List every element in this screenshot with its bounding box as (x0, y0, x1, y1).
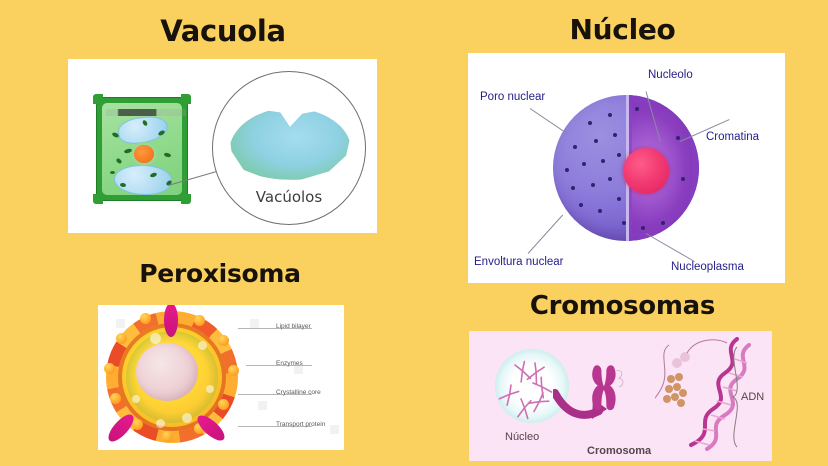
bilayer-bead-icon (228, 365, 239, 376)
bilayer-bead-icon (110, 393, 121, 404)
label-envoltura-nuclear: Envoltura nuclear (474, 256, 564, 268)
nuclear-pore-icon (676, 136, 680, 140)
plant-cell-illustration (96, 97, 188, 201)
enzyme-vesicle-icon (182, 413, 192, 423)
nuclear-pore-icon (622, 221, 626, 225)
nuclear-pore-icon (601, 159, 605, 163)
nuclear-pore-icon (591, 183, 595, 187)
figure-panel-cromosomas: Núcleo Cromosoma ADN (469, 331, 772, 461)
label-cromatina: Cromatina (706, 131, 759, 143)
chloroplast-icon (115, 158, 122, 165)
peroxisome-illustration (106, 311, 238, 443)
bilayer-bead-icon (162, 431, 173, 442)
label-adn: ADN (741, 391, 764, 403)
label-lipid-bilayer: Lipid bilayer (276, 323, 311, 330)
nuclear-pore-icon (565, 168, 569, 172)
chloroplast-icon (164, 152, 172, 158)
bilayer-bead-icon (140, 313, 151, 324)
bilayer-bead-icon (218, 335, 229, 346)
enzyme-vesicle-icon (150, 333, 161, 344)
nuclear-pore-icon (588, 121, 592, 125)
slide-canvas: Vacuola (0, 0, 828, 466)
nuclear-pore-icon (608, 113, 612, 117)
label-nucleo: Núcleo (505, 431, 539, 443)
bilayer-bead-icon (116, 333, 127, 344)
figure-panel-nucleo: Poro nuclear Nucleolo Cromatina Envoltur… (468, 53, 785, 283)
nuclear-pore-icon (579, 203, 583, 207)
nuclear-pore-icon (613, 133, 617, 137)
cell-corner-icon (93, 194, 103, 204)
enzyme-vesicle-icon (156, 419, 165, 428)
chromosome-icon (589, 355, 625, 425)
nuclear-pore-icon (571, 186, 575, 190)
vacuole-shape (114, 165, 172, 195)
cell-corner-icon (181, 194, 191, 204)
section-title-peroxisoma: Peroxisoma (70, 261, 370, 286)
chloroplast-icon (124, 148, 133, 154)
watermark-mark (250, 319, 259, 328)
bilayer-bead-icon (104, 363, 115, 374)
nuclear-pore-icon (617, 197, 621, 201)
section-title-cromosomas: Cromosomas (460, 293, 785, 319)
cell-corner-icon (181, 94, 191, 104)
cytoplasm-caption-strip (106, 109, 186, 116)
cytoplasm-region (102, 103, 182, 195)
label-cromosoma: Cromosoma (587, 445, 651, 457)
enzyme-vesicle-icon (132, 395, 140, 403)
chloroplast-icon (110, 171, 115, 174)
nucleolus-shape (623, 148, 669, 194)
nuclear-pore-icon (635, 107, 639, 111)
section-title-nucleo: Núcleo (460, 16, 785, 44)
label-nucleoplasma: Nucleoplasma (671, 261, 744, 273)
cell-nucleus-icon (134, 145, 154, 163)
figure-panel-peroxisoma: Lipid bilayer Enzymes Crystalline core T… (98, 305, 344, 450)
nuclear-pore-icon (573, 145, 577, 149)
leader-line (530, 108, 569, 135)
nuclear-pore-icon (617, 153, 621, 157)
crystalline-core-shape (136, 343, 198, 401)
bilayer-bead-icon (194, 315, 205, 326)
enzyme-vesicle-icon (206, 385, 214, 393)
label-nucleolo: Nucleolo (648, 69, 693, 81)
nuclear-pore-icon (594, 139, 598, 143)
watermark-mark (116, 319, 125, 328)
magnifier-circle: Vacúolos (212, 71, 366, 225)
enzyme-vesicle-icon (198, 341, 207, 350)
label-transport-protein: Transport protein (276, 421, 325, 428)
vacuolos-label: Vacúolos (213, 188, 365, 206)
nuclear-pore-icon (608, 177, 612, 181)
nuclear-pore-icon (582, 162, 586, 166)
watermark-mark (258, 401, 267, 410)
vacuole-closeup-shape (229, 108, 351, 180)
section-title-vacuola: Vacuola (0, 17, 446, 46)
leader-line (528, 215, 564, 254)
bilayer-bead-icon (218, 399, 229, 410)
label-poro-nuclear: Poro nuclear (480, 91, 545, 103)
figure-panel-vacuola: Vacúolos (68, 59, 377, 233)
bilayer-bead-icon (132, 419, 143, 430)
nuclear-pore-icon (661, 221, 665, 225)
label-crystalline-core: Crystalline core (276, 389, 321, 396)
label-enzymes: Enzymes (276, 360, 303, 367)
watermark-mark (330, 425, 339, 434)
nucleus-sphere (553, 95, 699, 241)
cell-corner-icon (93, 94, 103, 104)
nuclear-pore-icon (598, 209, 602, 213)
